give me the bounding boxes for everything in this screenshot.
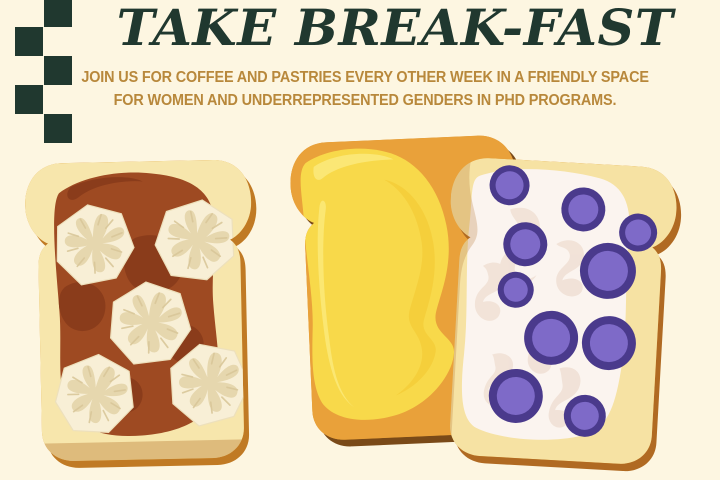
toast-chocolate-banana (8, 133, 279, 480)
toast-illustration-svg (0, 0, 720, 480)
toast-cream-blueberry (419, 125, 702, 480)
three-toast-slices (0, 0, 720, 480)
poster-canvas: TAKE BREAK-FAST JOIN US FOR COFFEE AND P… (0, 0, 720, 480)
